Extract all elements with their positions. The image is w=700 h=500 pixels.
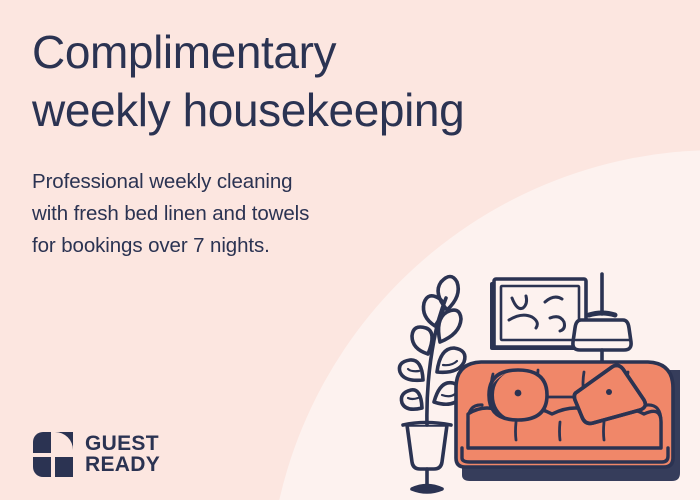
living-room-illustration: [390, 262, 700, 500]
promo-card: Complimentary weekly housekeeping Profes…: [0, 0, 700, 500]
logo-line-1: GUEST: [85, 434, 160, 455]
logo-wordmark: GUEST READY: [85, 434, 160, 476]
description-text: Professional weekly cleaning with fresh …: [32, 166, 612, 262]
page-title: Complimentary weekly housekeeping: [32, 24, 612, 140]
logo-line-2: READY: [85, 455, 160, 476]
brand-logo: GUEST READY: [32, 431, 160, 478]
text-block: Complimentary weekly housekeeping Profes…: [32, 24, 612, 262]
sofa-icon: [456, 362, 680, 481]
guestready-mark-icon: [32, 431, 74, 478]
